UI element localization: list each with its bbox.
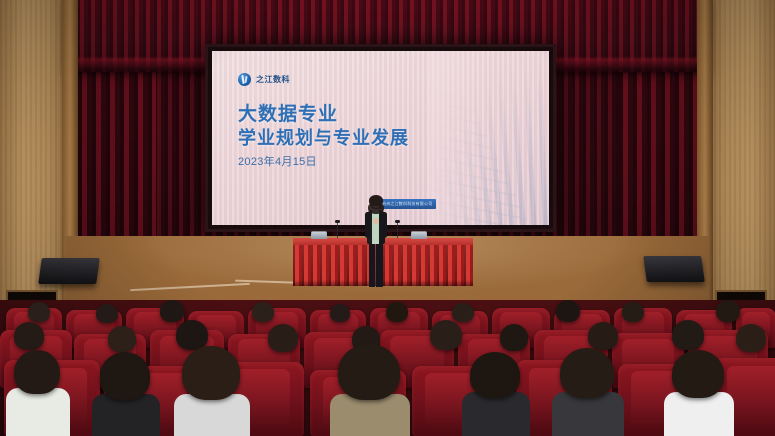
artwork-crossbeam	[429, 199, 528, 220]
audience-member-head	[14, 350, 60, 394]
audience-member-head	[736, 324, 766, 352]
artwork-column	[537, 55, 548, 225]
artwork-column	[484, 80, 504, 225]
artwork-crossbeam	[429, 188, 522, 208]
microphone-left	[337, 222, 338, 238]
audience-member-head	[588, 322, 618, 350]
audience-member-head	[470, 352, 520, 398]
slide-logo: 之江数科	[238, 73, 290, 86]
stage-monitor-speaker-left	[38, 258, 100, 284]
artwork-crossbeam	[429, 221, 540, 225]
slide-title-line-1: 大数据专业	[238, 103, 453, 127]
audience-member-body	[552, 392, 624, 436]
artwork-column	[458, 92, 482, 225]
audience-member-head	[330, 304, 350, 322]
audience-member-head	[14, 322, 44, 350]
microphone-right	[397, 222, 398, 238]
laptop-right	[411, 231, 428, 239]
audience-member-head	[716, 300, 740, 322]
audience-member-head	[556, 300, 580, 322]
audience-member-head	[252, 302, 274, 322]
audience-member-head	[672, 350, 724, 398]
presenter-hair-top	[369, 195, 383, 206]
audience-member-head	[338, 344, 400, 400]
audience-member-head	[500, 324, 528, 351]
audience-member-head	[386, 302, 408, 322]
audience-member-head	[28, 302, 50, 322]
artwork-crossbeam	[429, 210, 534, 225]
audience-member-head	[108, 326, 136, 352]
audience-member-head	[182, 346, 240, 400]
slide-title-block: 大数据专业 学业规划与专业发展 2023年4月15日	[238, 103, 453, 169]
audience-member-head	[672, 320, 704, 350]
audience-member-head	[96, 304, 118, 323]
presenter	[363, 196, 389, 290]
presenter-legs	[369, 243, 383, 287]
audience-member-head	[268, 324, 298, 352]
audience-area	[0, 300, 775, 436]
artwork-crossbeam	[429, 89, 468, 101]
audience-member-body	[462, 392, 530, 436]
presenter-arm-left	[365, 212, 370, 238]
company-logo-icon	[238, 73, 251, 86]
audience-member-body	[6, 388, 70, 436]
artwork-column	[523, 61, 537, 225]
audience-member-head	[560, 348, 614, 398]
laptop-left	[311, 231, 328, 239]
wall-panel-right	[709, 0, 775, 330]
audience-member-head	[100, 352, 150, 400]
auditorium-photo: 之江数科 大数据专业 学业规划与专业发展 2023年4月15日 杭州之江数科科技…	[0, 0, 775, 436]
audience-member-head	[452, 303, 474, 322]
artwork-column	[497, 73, 515, 225]
stage-monitor-speaker-right	[643, 256, 705, 282]
presenter-hands-holding-mic	[373, 218, 379, 224]
artwork-crossbeam	[429, 177, 516, 197]
audience-member-body	[92, 394, 160, 436]
audience-member-body	[174, 394, 250, 436]
slide-date: 2023年4月15日	[238, 153, 453, 169]
audience-member-head	[622, 302, 644, 322]
audience-member-head	[430, 320, 462, 350]
audience-member-head	[176, 320, 208, 350]
artwork-column	[510, 67, 526, 225]
audience-member-body	[664, 392, 734, 436]
artwork-column	[471, 86, 493, 225]
audience-member-body	[330, 394, 410, 436]
audience-member-head	[160, 300, 184, 322]
slide-title-line-2: 学业规划与专业发展	[238, 127, 453, 150]
slide-logo-text: 之江数科	[256, 74, 290, 85]
presenter-arm-right	[382, 212, 387, 238]
